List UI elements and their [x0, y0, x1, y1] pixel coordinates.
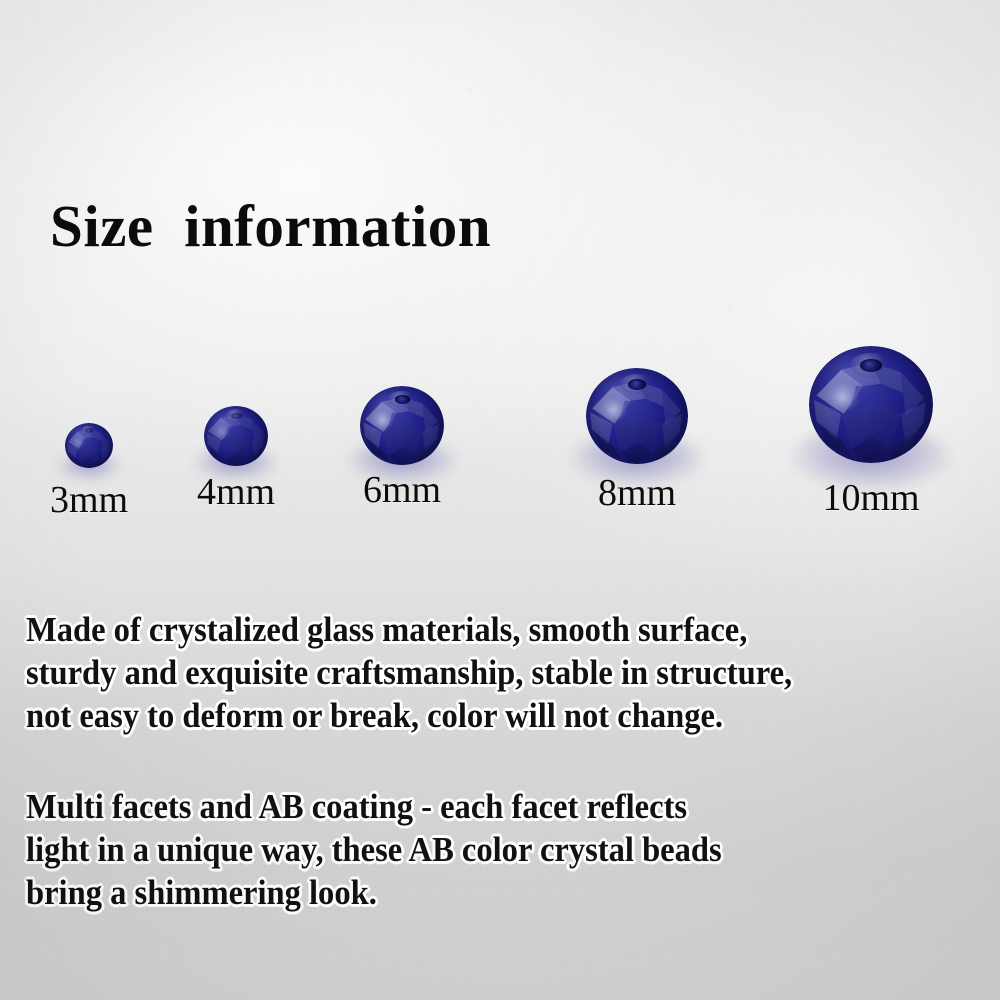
bead-size-group: 8mm — [547, 0, 727, 530]
crystal-bead — [204, 406, 268, 466]
crystal-bead — [360, 386, 444, 465]
description-paragraph: Multi facets and AB coating - each facet… — [26, 785, 976, 914]
bead-size-label: 3mm — [50, 478, 128, 522]
bead-rim-shading — [360, 386, 444, 465]
bead-size-group: 6mm — [312, 0, 492, 530]
bead-surface — [809, 346, 933, 463]
description-line: sturdy and exquisite craftsmanship, stab… — [26, 651, 910, 694]
bead-surface — [204, 406, 268, 466]
crystal-bead — [65, 423, 113, 468]
description-line: Multi facets and AB coating - each facet… — [26, 785, 910, 828]
description-line: light in a unique way, these AB color cr… — [26, 828, 910, 871]
bead-size-group: 4mm — [146, 0, 326, 530]
bead-size-label: 8mm — [598, 471, 676, 515]
bead-size-label: 10mm — [822, 476, 919, 520]
description-block: Made of crystalized glass materials, smo… — [26, 608, 976, 914]
size-chart: 3mm4mm6mm8mm10mm — [0, 0, 1000, 530]
infographic-page: Size information 3mm4mm6mm8mm10mm Made o… — [0, 0, 1000, 1000]
bead-size-label: 6mm — [363, 468, 441, 512]
bead-rim-shading — [65, 423, 113, 468]
bead-rim-shading — [586, 368, 688, 464]
description-line: bring a shimmering look. — [26, 871, 910, 914]
description-line: not easy to deform or break, color will … — [26, 694, 910, 737]
description-paragraph: Made of crystalized glass materials, smo… — [26, 608, 976, 737]
bead-surface — [360, 386, 444, 465]
description-line: Made of crystalized glass materials, smo… — [26, 608, 910, 651]
bead-surface — [65, 423, 113, 468]
crystal-bead — [586, 368, 688, 464]
bead-size-label: 4mm — [197, 470, 275, 514]
bead-rim-shading — [809, 346, 933, 463]
bead-surface — [586, 368, 688, 464]
bead-size-group: 10mm — [781, 0, 961, 530]
crystal-bead — [809, 346, 933, 463]
bead-rim-shading — [204, 406, 268, 466]
